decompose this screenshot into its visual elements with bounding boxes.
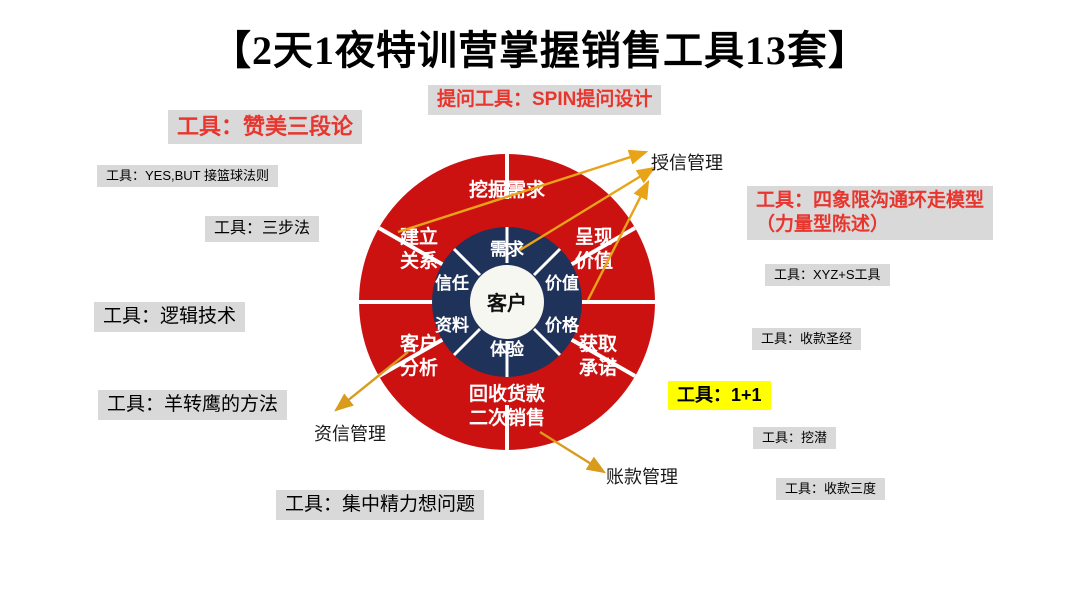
chip-spin-question[interactable]: 提问工具：SPIN提问设计	[428, 85, 661, 115]
chip-dig-potential[interactable]: 工具：挖潜	[753, 427, 836, 449]
chip-yes-but[interactable]: 工具：YES,BUT 接篮球法则	[97, 165, 278, 187]
chip-three-step[interactable]: 工具：三步法	[205, 216, 319, 242]
wheel-outer-label-top-right-line2: 价值	[575, 249, 613, 272]
wheel-outer-label-bottom-line1: 回收货款	[469, 382, 546, 405]
callout-receivables: 账款管理	[606, 463, 678, 489]
wheel-inner-label-right-upper: 价值	[545, 273, 579, 293]
chip-praise-three-part[interactable]: 工具：赞美三段论	[168, 110, 362, 144]
wheel-inner-label-top: 需求	[490, 239, 524, 259]
chip-xyz-plus-s[interactable]: 工具：XYZ+S工具	[765, 264, 890, 286]
wheel-outer-label-top-right-line1: 呈现	[575, 226, 613, 248]
wheel-outer-label-top-left-line2: 关系	[400, 249, 438, 272]
wheel-inner-label-bottom: 体验	[490, 339, 525, 359]
chip-four-quadrant[interactable]: 工具：四象限沟通环走模型 （力量型陈述）	[747, 186, 993, 240]
wheel-inner-label-right-lower: 价格	[545, 315, 580, 335]
wheel-inner-label-left-lower: 资料	[435, 315, 469, 335]
chip-collection-bible[interactable]: 工具：收款圣经	[752, 328, 861, 350]
wheel-center-label: 客户	[486, 291, 527, 315]
wheel-inner-label-left-upper: 信任	[435, 273, 469, 293]
chip-focus-on-problem[interactable]: 工具：集中精力想问题	[276, 490, 484, 520]
wheel-outer-label-bottom-right-line2: 承诺	[579, 357, 617, 379]
page-title: 【2天1夜特训营掌握销售工具13套】	[0, 18, 1080, 76]
wheel-outer-label-bottom-left-line2: 分析	[400, 356, 438, 379]
wheel-outer-label-bottom-right-line1: 获取	[579, 332, 617, 355]
chip-collection-three[interactable]: 工具：收款三度	[776, 478, 885, 500]
wheel-outer-label-bottom-line2: 二次销售	[469, 406, 545, 429]
callout-credit-standing: 资信管理	[314, 420, 386, 446]
chip-logic-technique[interactable]: 工具：逻辑技术	[94, 302, 245, 332]
chip-one-plus-one[interactable]: 工具：1+1	[668, 381, 771, 410]
sales-process-wheel: 挖掘需求 呈现 价值 获取 承诺 回收货款 二次销售 客户 分析 建立 关系 需…	[358, 153, 656, 451]
wheel-outer-label-top: 挖掘需求	[469, 178, 546, 201]
wheel-outer-label-bottom-left-line1: 客户	[400, 332, 438, 355]
callout-credit-approval: 授信管理	[651, 149, 723, 175]
slide-canvas: 【2天1夜特训营掌握销售工具13套】	[0, 0, 1080, 608]
chip-sheep-to-eagle[interactable]: 工具：羊转鹰的方法	[98, 390, 287, 420]
wheel-outer-label-top-left-line1: 建立	[400, 225, 438, 248]
